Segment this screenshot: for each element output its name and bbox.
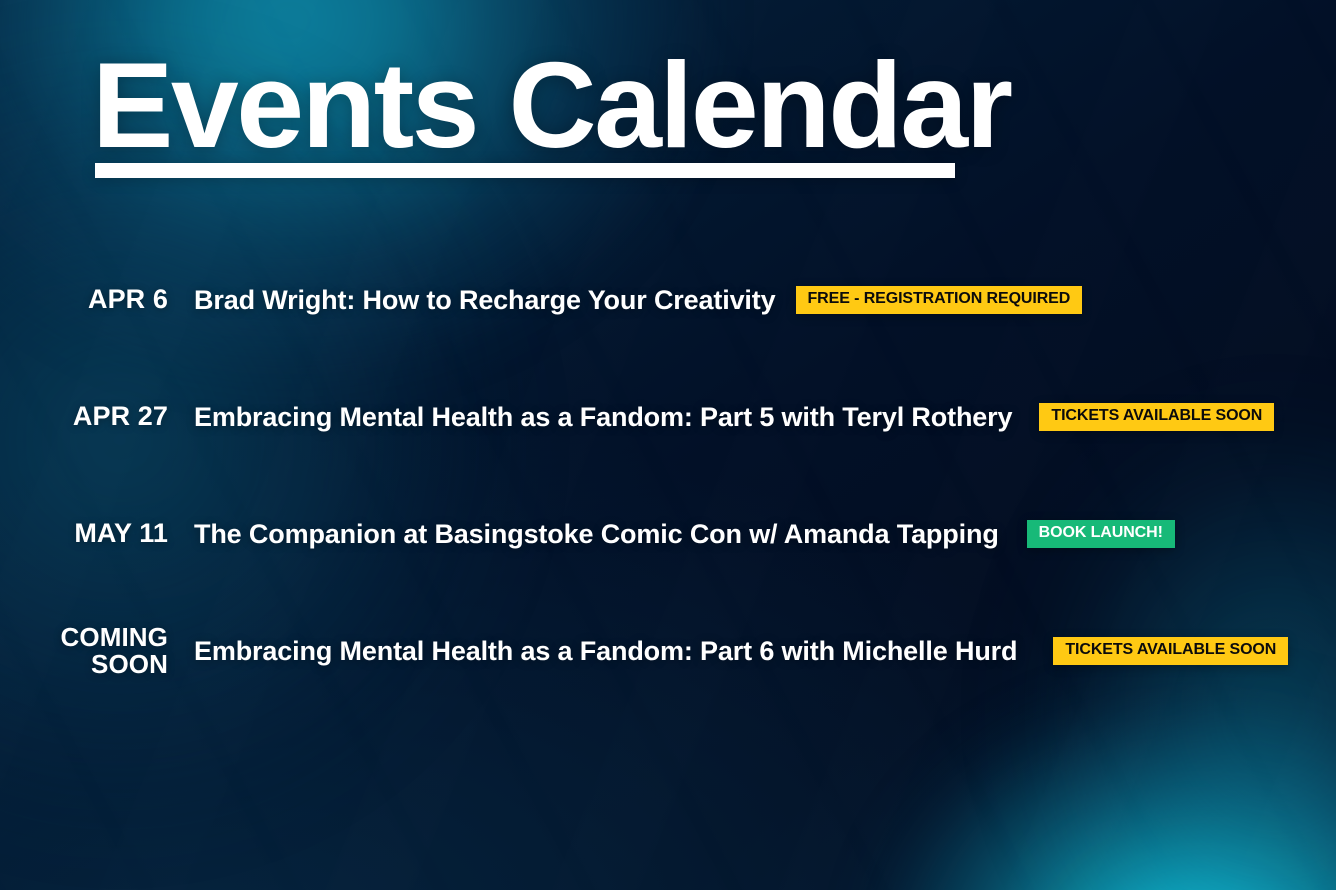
slide-content: Events Calendar APR 6 Brad Wright: How t… [0, 0, 1336, 890]
page-title-underline [95, 163, 955, 178]
event-date: APR 27 [0, 401, 168, 433]
event-title[interactable]: The Companion at Basingstoke Comic Con w… [194, 519, 999, 550]
event-date: APR 6 [0, 284, 168, 316]
event-row[interactable]: APR 27 Embracing Mental Health as a Fand… [0, 385, 1336, 449]
event-title[interactable]: Embracing Mental Health as a Fandom: Par… [194, 402, 1012, 433]
event-status-badge[interactable]: BOOK LAUNCH! [1027, 520, 1175, 548]
event-row[interactable]: COMING SOON Embracing Mental Health as a… [0, 619, 1336, 683]
events-list: APR 6 Brad Wright: How to Recharge Your … [0, 268, 1336, 736]
event-status-badge[interactable]: FREE - REGISTRATION REQUIRED [796, 286, 1083, 314]
event-row[interactable]: APR 6 Brad Wright: How to Recharge Your … [0, 268, 1336, 332]
event-title[interactable]: Brad Wright: How to Recharge Your Creati… [194, 285, 776, 316]
event-status-badge[interactable]: TICKETS AVAILABLE SOON [1039, 403, 1274, 431]
event-row[interactable]: MAY 11 The Companion at Basingstoke Comi… [0, 502, 1336, 566]
event-title[interactable]: Embracing Mental Health as a Fandom: Par… [194, 636, 1017, 667]
event-status-badge[interactable]: TICKETS AVAILABLE SOON [1053, 637, 1288, 665]
event-date-line-1: COMING [61, 622, 168, 652]
event-date: COMING SOON [0, 624, 168, 678]
event-date: MAY 11 [0, 518, 168, 550]
page-title: Events Calendar [92, 44, 1011, 166]
event-date-line-2: SOON [91, 649, 168, 679]
